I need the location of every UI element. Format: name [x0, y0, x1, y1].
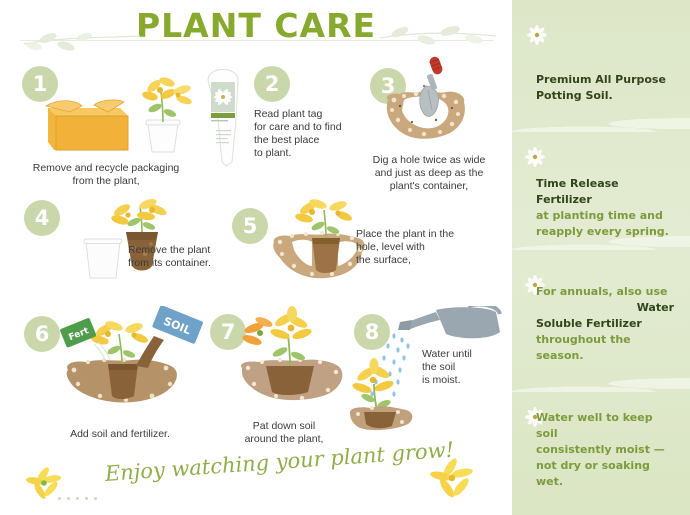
sidebar-line-4-3: not dry or soaking wet. [536, 459, 650, 488]
sidebar-line-3-1: For annuals, also use [536, 285, 668, 298]
sidebar-line-3-2: Water [536, 300, 674, 316]
step-1: 1 [16, 60, 196, 180]
sidebar-text-1: Premium All Purpose Potting Soil. [536, 72, 676, 104]
step-2-caption: Read plant tag for care and to find the … [254, 108, 354, 160]
step-8-caption: Water until the soil is moist. [422, 348, 506, 387]
step-6-illustration: Fert SOIL [54, 306, 214, 424]
dotted-trail [58, 487, 108, 493]
sidebar-item-time-release-fertilizer: Time Release Fertilizer at planting time… [512, 128, 690, 248]
white-flower-icon-2 [522, 144, 548, 170]
step-6-caption: Add soil and fertilizer. [30, 428, 210, 441]
step-3: 3 [356, 54, 506, 204]
step-2-badge: 2 [254, 66, 290, 102]
step-7: 7 [204, 306, 364, 446]
leaf-vine-right-icon [378, 22, 498, 50]
step-2: 2 Read plant tag for care and to find th… [196, 58, 356, 188]
leaf-vine-left-icon [22, 26, 142, 52]
step-7-illustration [228, 306, 358, 418]
sidebar-item-watering: Water well to keep soil consistently moi… [512, 390, 690, 515]
sidebar-line-1-2: Potting Soil. [536, 89, 613, 102]
step-5-caption: Place the plant in the hole, level with … [356, 228, 476, 267]
sidebar-line-4-1: Water well to keep soil [536, 411, 653, 440]
step-6: 6 [20, 306, 220, 446]
footer-tagline: Enjoy watching your plant grow! [104, 441, 405, 486]
step-2-illustration [196, 58, 254, 170]
sidebar-line-3-4: throughout the season. [536, 333, 631, 362]
step-7-caption: Pat down soil around the plant, [204, 420, 364, 446]
step-3-illustration [366, 56, 491, 156]
yellow-flower-left-icon [26, 466, 64, 500]
step-1-illustration [24, 72, 199, 160]
white-flower-icon-1 [524, 22, 550, 48]
header: PLANT CARE [0, 4, 512, 54]
sidebar-line-4-2: consistently moist — [536, 443, 665, 456]
sidebar: Premium All Purpose Potting Soil. [512, 0, 690, 515]
sidebar-item-water-soluble-fertilizer: For annuals, also use Water Soluble Fert… [512, 248, 690, 390]
sidebar-item-potting-soil: Premium All Purpose Potting Soil. [512, 0, 690, 128]
sidebar-line-3-3: Soluble Fertilizer [536, 317, 642, 330]
step-8: 8 [346, 306, 512, 436]
step-4: 4 [20, 196, 235, 296]
yellow-flower-right-icon [430, 458, 476, 500]
plant-care-infographic: PLANT CARE 1 [0, 0, 690, 515]
sidebar-line-2-1: Time Release Fertilizer [536, 177, 619, 206]
sidebar-text-3: For annuals, also use Water Soluble Fert… [536, 284, 676, 364]
sidebar-text-4: Water well to keep soil consistently moi… [536, 410, 676, 490]
step-5: 5 [230, 196, 500, 300]
step-3-caption: Dig a hole twice as wide and just as dee… [344, 154, 514, 193]
sidebar-text-2: Time Release Fertilizer at planting time… [536, 176, 676, 240]
sidebar-line-2-2: at planting time and [536, 209, 663, 222]
step-1-caption: Remove and recycle packaging from the pl… [16, 162, 196, 188]
step-4-caption: Remove the plant from its container. [128, 244, 238, 270]
sidebar-line-1-1: Premium All Purpose [536, 73, 666, 86]
main-panel: PLANT CARE 1 [0, 0, 512, 515]
